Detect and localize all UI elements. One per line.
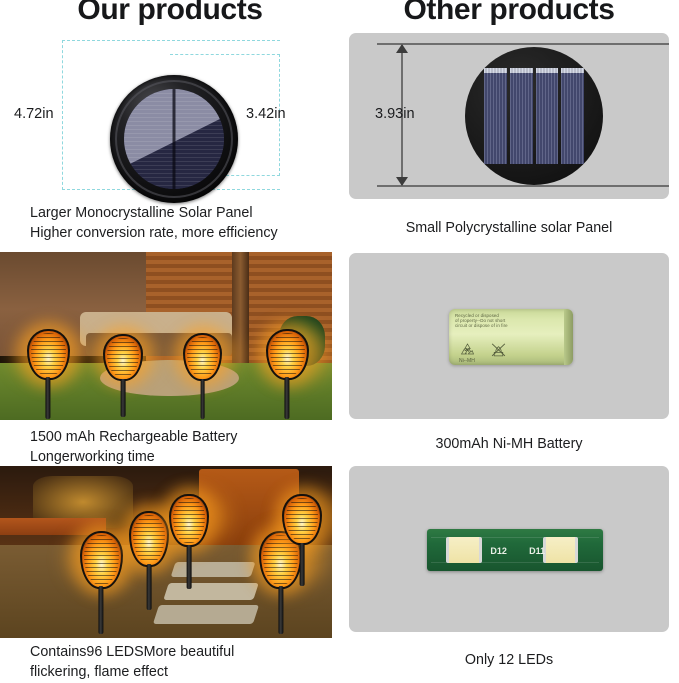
- torch-light: [129, 511, 169, 607]
- nimh-battery-image: Recycled or disposed of property--Do not…: [449, 309, 573, 365]
- no-fire-icon: [489, 341, 508, 358]
- guide-line-top: [377, 43, 669, 45]
- arrow-head-down: [396, 177, 408, 186]
- dimension-label-poly: 3.93in: [375, 106, 415, 122]
- caption-battery-left: 1500 mAh Rechargeable Battery Longerwork…: [30, 427, 340, 467]
- pcb-ref-d11: D11: [529, 546, 545, 556]
- header-our-products: Our products: [0, 0, 340, 27]
- caption-solar-panel-right: Small Polycrystalline solar Panel: [349, 218, 669, 238]
- row-leds-right: D12 D11: [349, 466, 669, 632]
- guide-line-bottom: [377, 185, 669, 187]
- caption-solar-panel-left: Larger Monocrystalline Solar Panel Highe…: [30, 203, 340, 243]
- monocrystalline-panel-image: [110, 75, 238, 203]
- battery-chemistry-label: Ni--MH: [459, 358, 475, 364]
- recycle-icon: [459, 342, 476, 358]
- row-battery-right: Recycled or disposed of property--Do not…: [349, 253, 669, 419]
- pathway-torches-photo: [0, 466, 332, 638]
- torch-light: [80, 531, 123, 631]
- comparison-infographic: Our products Other products 4.72in 3.42i…: [0, 0, 679, 683]
- caption-battery-right: 300mAh Ni-MH Battery: [349, 434, 669, 454]
- pcb-ref-d12: D12: [490, 546, 507, 556]
- torch-light: [183, 333, 223, 417]
- led-board-image: D12 D11: [427, 529, 603, 571]
- dimension-right-label: 3.42in: [246, 106, 286, 122]
- torch-light: [103, 334, 143, 415]
- torch-light: [27, 329, 70, 416]
- torch-light: [282, 494, 322, 583]
- caption-leds-right: Only 12 LEDs: [349, 650, 669, 670]
- led-chip: [543, 537, 578, 564]
- header-other-products: Other products: [339, 0, 679, 27]
- torch-light: [169, 494, 209, 587]
- patio-torches-photo: [0, 252, 332, 420]
- battery-warning-label: Recycled or disposed of property--Do not…: [455, 313, 559, 329]
- polycrystalline-panel-image: [465, 47, 603, 185]
- row-solar-panel-right: 3.93in: [349, 33, 669, 199]
- torch-light: [266, 329, 309, 416]
- dimension-left-label: 4.72in: [14, 106, 54, 122]
- arrow-head-up: [396, 44, 408, 53]
- caption-leds-left: Contains96 LEDSMore beautiful flickering…: [30, 642, 340, 682]
- row-solar-panel-left: 4.72in 3.42in: [0, 30, 340, 205]
- led-chip: [446, 537, 481, 564]
